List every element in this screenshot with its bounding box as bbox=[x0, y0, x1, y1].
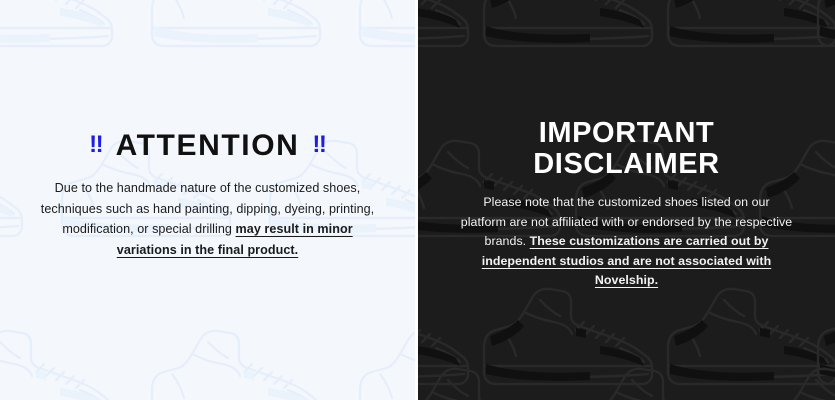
disclaimer-body: Please note that the customized shoes li… bbox=[460, 193, 793, 290]
disclaimer-banner: ‼ ATTENTION ‼ Due to the handmade nature… bbox=[0, 0, 835, 400]
double-exclamation-right-icon: ‼ bbox=[312, 133, 326, 157]
important-disclaimer-panel: IMPORTANT DISCLAIMER Please note that th… bbox=[418, 0, 835, 400]
disclaimer-heading-line1: IMPORTANT bbox=[539, 117, 715, 149]
attention-heading-row: ‼ ATTENTION ‼ bbox=[34, 130, 381, 162]
double-exclamation-left-icon: ‼ bbox=[89, 133, 103, 157]
attention-panel: ‼ ATTENTION ‼ Due to the handmade nature… bbox=[0, 0, 415, 400]
disclaimer-content: IMPORTANT DISCLAIMER Please note that th… bbox=[418, 118, 835, 290]
attention-heading: ATTENTION bbox=[116, 130, 300, 162]
disclaimer-heading-line2: DISCLAIMER bbox=[533, 148, 719, 180]
attention-body: Due to the handmade nature of the custom… bbox=[34, 178, 381, 260]
disclaimer-heading: IMPORTANT DISCLAIMER bbox=[460, 118, 793, 179]
attention-content: ‼ ATTENTION ‼ Due to the handmade nature… bbox=[0, 130, 415, 260]
